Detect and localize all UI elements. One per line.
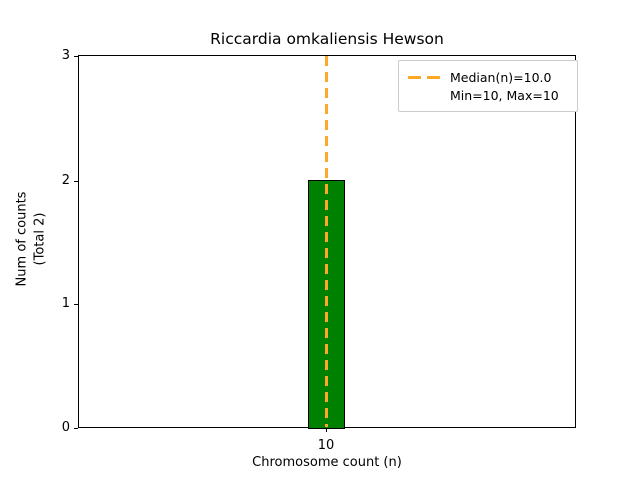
median-line <box>325 56 328 427</box>
legend-row-median: Median(n)=10.0 <box>407 68 569 86</box>
ytick-label-0-box: 0 <box>48 421 70 435</box>
ytick-label-2-box: 2 <box>48 174 70 188</box>
legend-row-minmax: Min=10, Max=10 <box>407 86 569 104</box>
ytick-label-3-box: 3 <box>48 49 70 63</box>
xtick-mark-10 <box>326 428 327 432</box>
chart-title: Riccardia omkaliensis Hewson <box>78 30 576 48</box>
legend-label-median: Median(n)=10.0 <box>450 70 551 85</box>
ytick-mark-1 <box>74 304 78 305</box>
ytick-label-1-box: 1 <box>48 297 70 311</box>
y-axis-label: Num of counts (Total 2) <box>14 192 49 287</box>
legend-dashed-line-icon <box>407 68 443 86</box>
xtick-label-10-box: 10 <box>296 434 356 453</box>
y-axis-label-wrapper: Num of counts (Total 2) <box>15 53 49 426</box>
legend[interactable]: Median(n)=10.0 Min=10, Max=10 <box>398 60 578 112</box>
ytick-mark-2 <box>74 181 78 182</box>
ytick-label-1: 1 <box>48 297 70 310</box>
ytick-label-2: 2 <box>48 174 70 187</box>
chart-figure: Riccardia omkaliensis Hewson 3 2 1 0 10 … <box>0 0 640 480</box>
xtick-label-10: 10 <box>318 438 335 453</box>
ytick-label-0: 0 <box>48 421 70 434</box>
ytick-mark-3 <box>74 56 78 57</box>
ytick-label-3: 3 <box>48 49 70 62</box>
legend-label-minmax: Min=10, Max=10 <box>450 88 559 103</box>
ytick-mark-0 <box>74 428 78 429</box>
x-axis-label: Chromosome count (n) <box>78 455 576 470</box>
